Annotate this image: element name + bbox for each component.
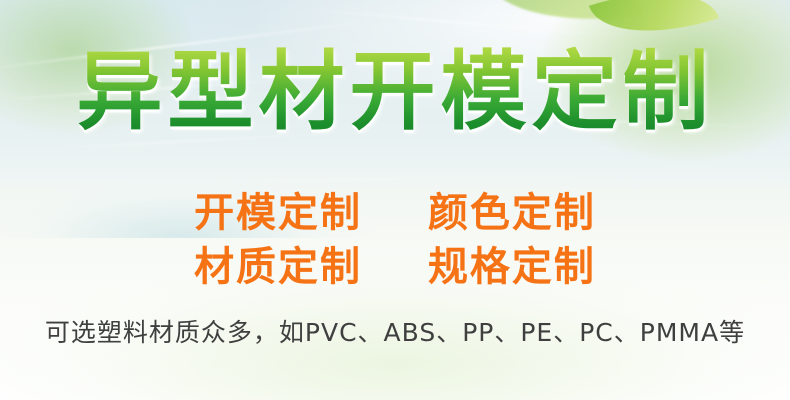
feature-item-color: 颜色定制 — [428, 190, 596, 236]
feature-row: 材质定制 规格定制 — [0, 240, 790, 294]
feature-row: 开模定制 颜色定制 — [0, 186, 790, 240]
feature-item-material: 材质定制 — [194, 244, 362, 290]
product-banner: 异型材开模定制 异型材开模定制 开模定制 颜色定制 材质定制 规格定制 可选塑料… — [0, 0, 790, 400]
feature-item-spec: 规格定制 — [428, 244, 596, 290]
banner-headline: 异型材开模定制 — [0, 44, 790, 140]
banner-subtitle: 可选塑料材质众多，如PVC、ABS、PP、PE、PC、PMMA等 — [0, 316, 790, 350]
feature-list: 开模定制 颜色定制 材质定制 规格定制 — [0, 186, 790, 294]
feature-item-mold: 开模定制 — [194, 190, 362, 236]
